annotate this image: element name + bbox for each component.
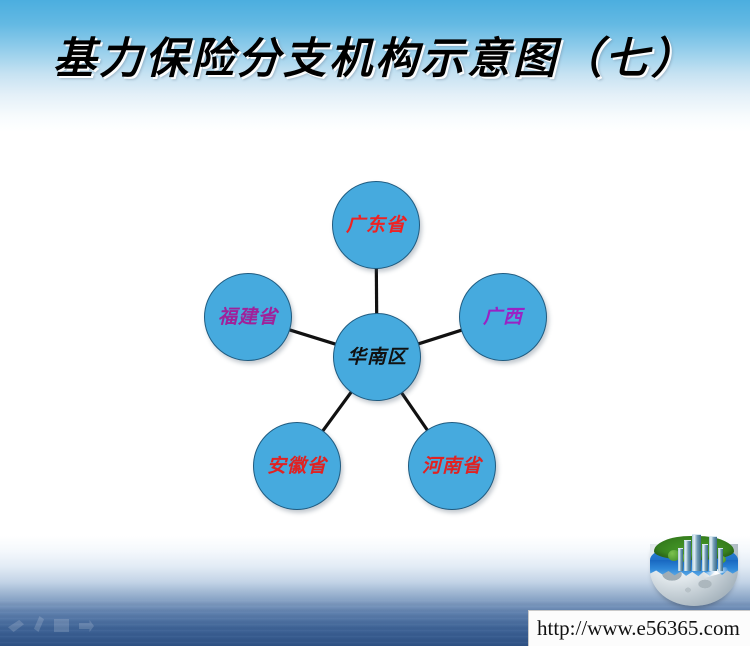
diagram-node-anhui[interactable]: 安徽省 (253, 422, 341, 510)
edge-center-to-henan (401, 392, 428, 432)
node-label-guangxi: 广西 (483, 308, 523, 327)
building-icon (718, 548, 723, 571)
node-label-fujian: 福建省 (218, 308, 278, 327)
edge-center-to-anhui (322, 391, 352, 432)
building-icon (692, 534, 701, 571)
diagram-node-fujian[interactable]: 福建省 (204, 273, 292, 361)
watermark-url-bar: http://www.e56365.com (528, 610, 750, 646)
site-url[interactable]: http://www.e56365.com (529, 616, 740, 641)
building-icon (702, 544, 708, 571)
edge-center-to-fujian (288, 329, 337, 344)
node-label-anhui: 安徽省 (267, 457, 327, 476)
org-structure-diagram: 华南区广东省广西河南省安徽省福建省 (0, 0, 750, 646)
globe-green-land (654, 536, 734, 560)
edge-center-to-guangxi (417, 330, 463, 345)
node-label-guangdong: 广东省 (346, 216, 406, 235)
building-icon (709, 536, 717, 571)
center-node-label: 华南区 (347, 348, 407, 367)
building-icon (684, 540, 691, 571)
building-icon (678, 548, 683, 571)
diagram-node-guangxi[interactable]: 广西 (459, 273, 547, 361)
diagram-node-henan[interactable]: 河南省 (408, 422, 496, 510)
node-label-henan: 河南省 (422, 457, 482, 476)
globe-city-logo (648, 522, 740, 608)
slide-canvas: 基力保险分支机构示意图（七） 华南区广东省广西河南省安徽省福建省 http://… (0, 0, 750, 646)
diagram-node-guangdong[interactable]: 广东省 (332, 181, 420, 269)
diagram-node-center[interactable]: 华南区 (333, 313, 421, 401)
